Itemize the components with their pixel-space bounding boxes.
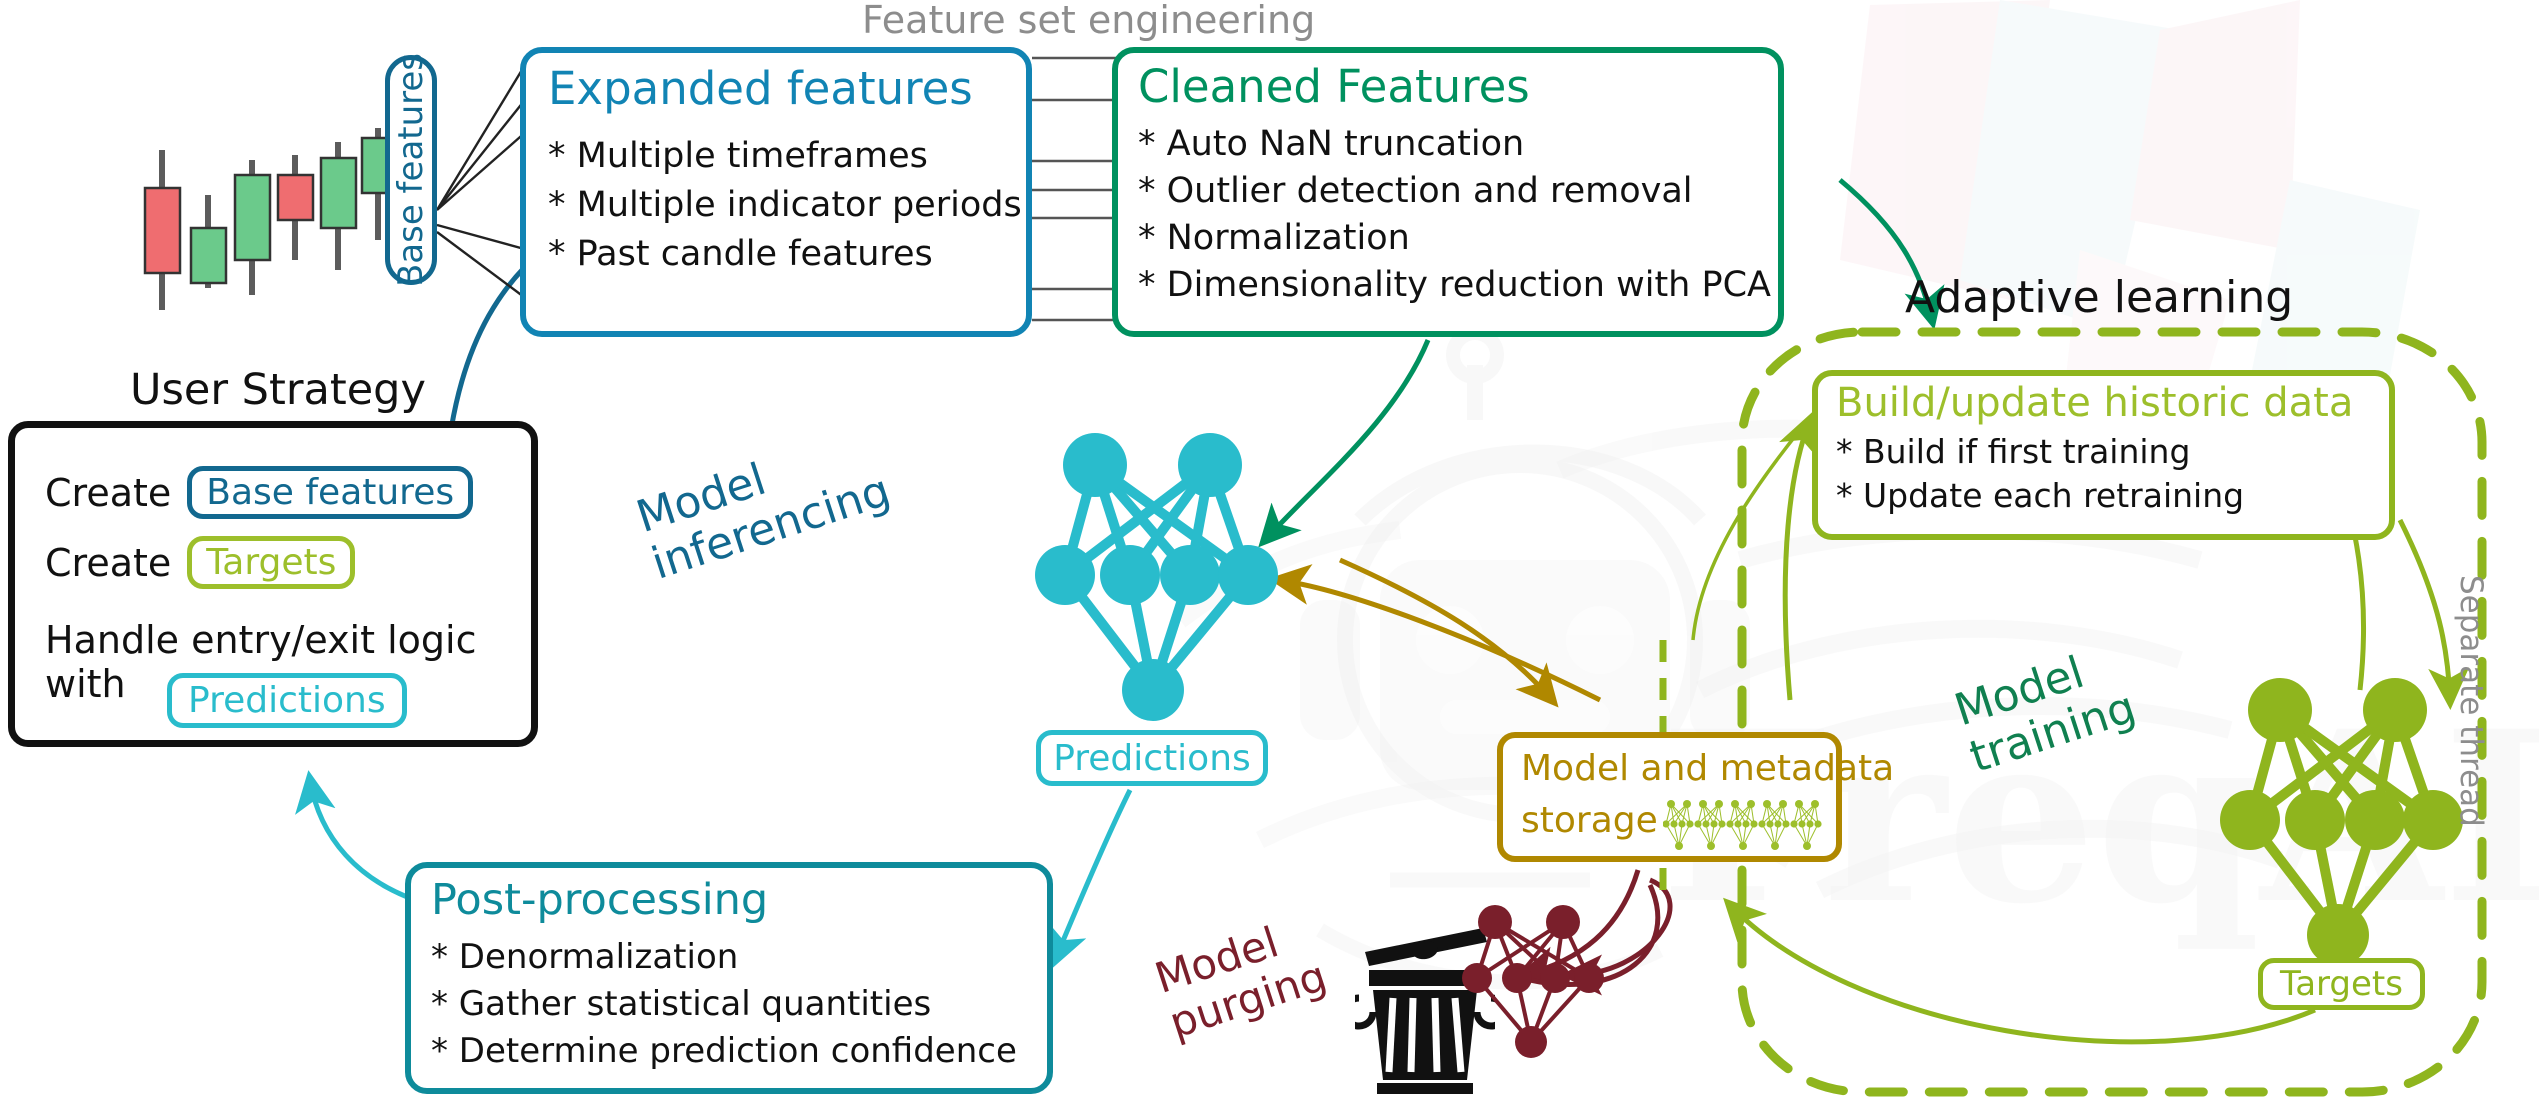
cleaned-features-box[interactable]: Cleaned Features * Auto NaN truncation *… — [1112, 47, 1784, 337]
predictions-inline-pill[interactable]: Predictions — [167, 673, 407, 728]
storage-line2: storage — [1521, 800, 1658, 841]
cleaned-features-bullets: * Auto NaN truncation * Outlier detectio… — [1138, 124, 1778, 305]
diagram-canvas: FreqAI — [0, 0, 2539, 1104]
post-processing-bullets: * Denormalization * Gather statistical q… — [431, 937, 1047, 1071]
storage-line1: Model and metadata — [1521, 748, 1894, 789]
user-strategy-row-targets: Create Targets — [45, 536, 355, 589]
bullet-item: * Past candle features — [548, 234, 1026, 274]
feature-set-engineering-label: Feature set engineering — [862, 0, 1315, 42]
base-features-inline-pill[interactable]: Base features — [187, 466, 473, 519]
bullet-item: * Build if first training — [1836, 432, 2389, 471]
bullet-item: * Normalization — [1138, 218, 1778, 258]
base-features-pill[interactable]: Base features — [385, 55, 437, 285]
bullet-item: * Update each retraining — [1836, 476, 2389, 515]
neural-network-row-icon — [1663, 794, 1833, 856]
expanded-features-title: Expanded features — [548, 65, 1026, 112]
model-metadata-storage-box[interactable]: Model and metadata storage — [1497, 732, 1842, 862]
cleaned-features-title: Cleaned Features — [1138, 63, 1778, 110]
predictions-pill[interactable]: Predictions — [1036, 730, 1268, 786]
targets-pill[interactable]: Targets — [2258, 958, 2425, 1010]
neural-network-icon — [2205, 665, 2475, 975]
bullet-item: * Auto NaN truncation — [1138, 124, 1778, 164]
model-purging-label: Model purging — [1149, 907, 1332, 1046]
create-label: Create — [45, 471, 171, 515]
user-strategy-title: User Strategy — [130, 365, 426, 415]
bullet-item: * Dimensionality reduction with PCA — [1138, 265, 1778, 305]
user-strategy-box[interactable]: Create Base features Create Targets Hand… — [8, 421, 538, 747]
post-processing-title: Post-processing — [431, 878, 1047, 923]
build-update-historic-data-box[interactable]: Build/update historic data * Build if fi… — [1812, 370, 2395, 540]
bullet-item: * Gather statistical quantities — [431, 984, 1047, 1024]
model-inferencing-label: Model inferencing — [631, 419, 896, 589]
candlestick-chart-icon — [140, 120, 410, 340]
bullet-item: * Determine prediction confidence — [431, 1031, 1047, 1071]
expanded-features-box[interactable]: Expanded features * Multiple timeframes … — [520, 47, 1032, 337]
neural-network-icon — [1455, 900, 1615, 1065]
bullet-item: * Outlier detection and removal — [1138, 171, 1778, 211]
create-label: Create — [45, 541, 171, 585]
expanded-features-bullets: * Multiple timeframes * Multiple indicat… — [548, 136, 1026, 274]
model-training-label: Model training — [1949, 636, 2142, 782]
post-processing-box[interactable]: Post-processing * Denormalization * Gath… — [405, 862, 1053, 1094]
separate-thread-label: Separate thread — [2453, 575, 2488, 827]
user-strategy-row-base-features: Create Base features — [45, 466, 473, 519]
bullet-item: * Denormalization — [431, 937, 1047, 977]
neural-network-icon — [1020, 420, 1290, 730]
targets-inline-pill[interactable]: Targets — [187, 536, 355, 589]
adaptive-learning-label: Adaptive learning — [1905, 272, 2293, 323]
base-features-pill-label: Base features — [391, 53, 431, 287]
bullet-item: * Multiple indicator periods — [548, 185, 1026, 225]
bullet-item: * Multiple timeframes — [548, 136, 1026, 176]
build-update-bullets: * Build if first training * Update each … — [1836, 432, 2389, 515]
build-update-title: Build/update historic data — [1836, 382, 2389, 424]
